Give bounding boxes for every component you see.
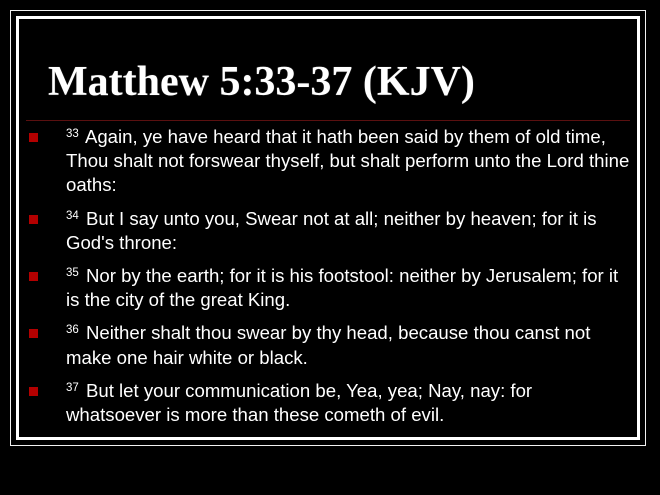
verse-number: 36	[66, 324, 81, 336]
verse-item: 36 Neither shalt thou swear by thy head,…	[19, 321, 637, 369]
verse-text: But let your communication be, Yea, yea;…	[66, 380, 532, 425]
verse-text: Neither shalt thou swear by thy head, be…	[66, 322, 590, 367]
verse-number: 35	[66, 267, 81, 279]
red-square-bullet-icon	[29, 329, 38, 338]
title-divider-rule	[26, 120, 630, 121]
red-square-bullet-icon	[29, 387, 38, 396]
verse-item: 35 Nor by the earth; for it is his foots…	[19, 264, 637, 312]
slide-title: Matthew 5:33-37 (KJV)	[19, 19, 637, 103]
verse-list: 33 Again, ye have heard that it hath bee…	[19, 125, 637, 427]
slide-content: Matthew 5:33-37 (KJV) 33 Again, ye have …	[19, 19, 637, 437]
verse-number: 33	[66, 128, 81, 140]
verse-item: 33 Again, ye have heard that it hath bee…	[19, 125, 637, 198]
presentation-slide: Matthew 5:33-37 (KJV) 33 Again, ye have …	[0, 0, 660, 495]
red-square-bullet-icon	[29, 215, 38, 224]
verse-item: 37 But let your communication be, Yea, y…	[19, 379, 637, 427]
red-square-bullet-icon	[29, 133, 38, 142]
verse-item: 34 But I say unto you, Swear not at all;…	[19, 207, 637, 255]
verse-text: But I say unto you, Swear not at all; ne…	[66, 208, 597, 253]
red-square-bullet-icon	[29, 272, 38, 281]
verse-number: 34	[66, 210, 81, 222]
verse-text: Again, ye have heard that it hath been s…	[66, 126, 629, 195]
verse-number: 37	[66, 382, 81, 394]
verse-text: Nor by the earth; for it is his footstoo…	[66, 265, 618, 310]
